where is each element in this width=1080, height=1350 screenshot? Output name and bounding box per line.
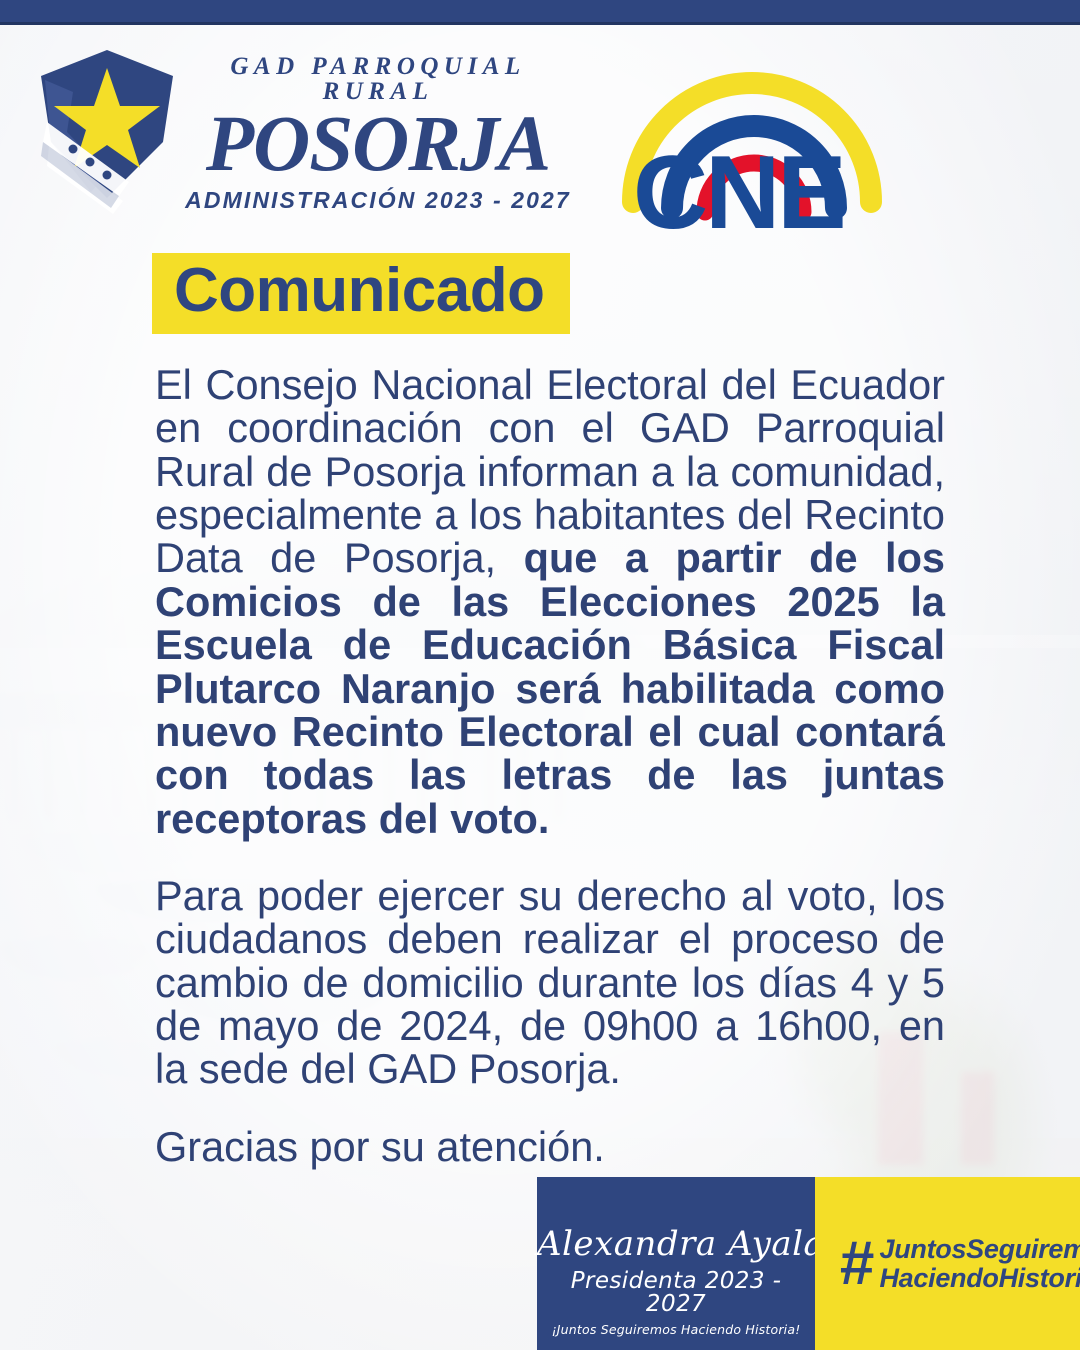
- gad-wordmark: GAD PARROQUIAL RURAL POSORJA ADMINISTRAC…: [178, 54, 578, 212]
- page-title: POSORJA: [178, 106, 578, 183]
- hashtag-text: JuntosSeguiremos HaciendoHistoria: [879, 1235, 1080, 1292]
- paragraph-2: Para poder ejercer su derecho al voto, l…: [155, 874, 945, 1091]
- gad-kicker-text: GAD PARROQUIAL RURAL: [178, 54, 578, 104]
- gad-admin-period: ADMINISTRACIÓN 2023 - 2027: [178, 189, 578, 212]
- hashtag-line-2: HaciendoHistoria: [879, 1264, 1080, 1293]
- hashtag-line-1: JuntosSeguiremos: [879, 1235, 1080, 1264]
- hashtag-row: # JuntosSeguiremos HaciendoHistoria: [815, 1235, 1080, 1292]
- posorja-shield-icon: [33, 46, 181, 231]
- comunicado-title: Comunicado: [174, 259, 544, 322]
- signature-role: Presidenta 2023 - 2027: [537, 1270, 815, 1316]
- poster-header: GAD PARROQUIAL RURAL POSORJA ADMINISTRAC…: [0, 36, 1080, 236]
- paragraph-3: Gracias por su atención.: [155, 1125, 945, 1168]
- signature-block: Alexandra Ayala Presidenta 2023 - 2027 ¡…: [537, 1177, 815, 1350]
- paragraph-1: El Consejo Nacional Electoral del Ecuado…: [155, 363, 945, 840]
- signature-name: Alexandra Ayala: [537, 1227, 815, 1261]
- svg-text:CNE: CNE: [633, 135, 844, 235]
- paragraph-1-bold: que a partir de los Comicios de las Elec…: [155, 534, 945, 841]
- top-navy-bar: [0, 0, 1080, 25]
- hash-symbol-icon: #: [839, 1237, 873, 1290]
- announcement-body: El Consejo Nacional Electoral del Ecuado…: [155, 363, 945, 1168]
- signature-slogan: ¡Juntos Seguiremos Haciendo Historia!: [537, 1324, 815, 1337]
- comunicado-poster: GAD PARROQUIAL RURAL POSORJA ADMINISTRAC…: [0, 0, 1080, 1350]
- comunicado-banner: Comunicado: [152, 253, 570, 334]
- hashtag-block: # JuntosSeguiremos HaciendoHistoria: [815, 1177, 1080, 1350]
- cne-logo-icon: CNE: [615, 50, 890, 235]
